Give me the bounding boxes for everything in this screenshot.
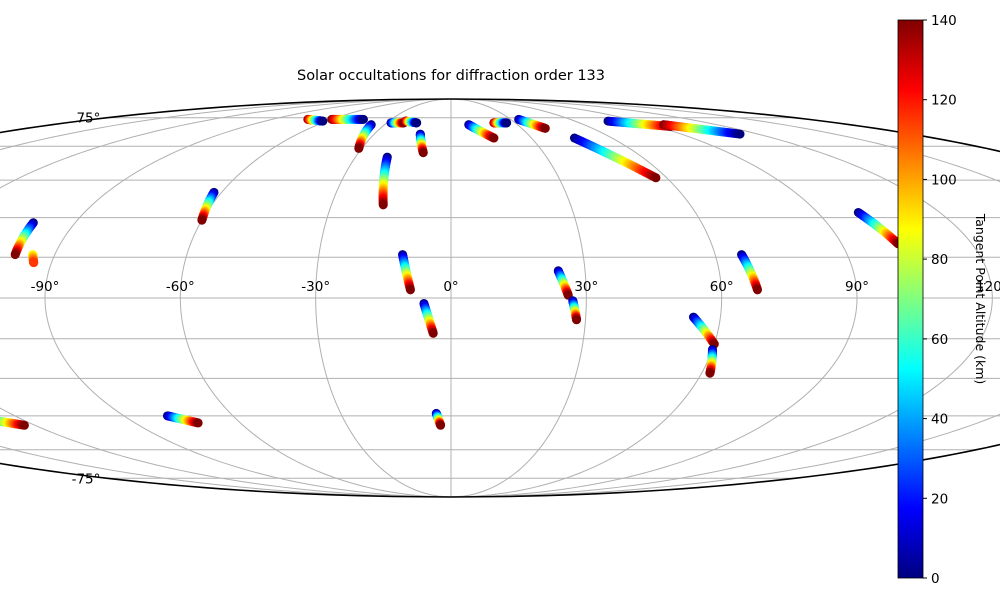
track-point — [20, 421, 29, 430]
colorbar-axis-label: Tangent Point Altitude (km) — [973, 213, 988, 385]
track-point — [406, 285, 415, 294]
latitude-tick-label: -75° — [72, 471, 101, 487]
track-point — [436, 421, 445, 430]
track-point — [651, 173, 660, 182]
figure-root: -150°-120°-90°-60°-30°0°30°60°90°120°150… — [0, 0, 1000, 600]
track-point — [572, 315, 581, 324]
track-point — [736, 130, 745, 139]
track-point — [29, 258, 38, 267]
colorbar-tick-label: 140 — [931, 13, 957, 29]
colorbar-tick-label: 0 — [931, 571, 940, 587]
longitude-tick-label: 0° — [443, 279, 458, 295]
longitude-tick-label: 30° — [574, 279, 598, 295]
latitude-tick-label: 75° — [76, 111, 100, 127]
colorbar-tick-label: 40 — [931, 412, 948, 428]
track-point — [318, 117, 327, 126]
longitude-tick-label: -90° — [31, 279, 60, 295]
track-point — [197, 216, 206, 225]
track-point — [502, 118, 511, 127]
plot-canvas: -150°-120°-90°-60°-30°0°30°60°90°120°150… — [0, 0, 1000, 600]
occultation-track — [28, 250, 38, 267]
track-point — [379, 200, 388, 209]
track-point — [359, 115, 368, 124]
track-point — [412, 118, 421, 127]
track-point — [194, 418, 203, 427]
figure-background — [0, 0, 1000, 600]
mollweide-figure: -150°-120°-90°-60°-30°0°30°60°90°120°150… — [0, 0, 1000, 600]
colorbar-tick-label: 60 — [931, 332, 948, 348]
colorbar-tick-label: 80 — [931, 252, 948, 268]
track-point — [705, 369, 714, 378]
track-point — [419, 148, 428, 157]
colorbar-tick-label: 100 — [931, 172, 957, 188]
occultation-track — [327, 115, 368, 124]
occultation-track — [489, 118, 511, 127]
track-point — [11, 250, 20, 259]
track-point — [489, 134, 498, 143]
colorbar-tick-label: 20 — [931, 491, 948, 507]
longitude-tick-label: -30° — [301, 279, 330, 295]
page-title: Solar occultations for diffraction order… — [297, 68, 605, 84]
longitude-tick-label: -60° — [166, 279, 195, 295]
track-point — [753, 285, 762, 294]
longitude-tick-label: 90° — [845, 279, 869, 295]
colorbar-tick-label: 120 — [931, 93, 957, 109]
track-point — [429, 329, 438, 338]
track-point — [541, 124, 550, 133]
longitude-tick-label: 60° — [710, 279, 734, 295]
track-point — [354, 144, 363, 153]
colorbar-gradient[interactable] — [898, 20, 923, 578]
